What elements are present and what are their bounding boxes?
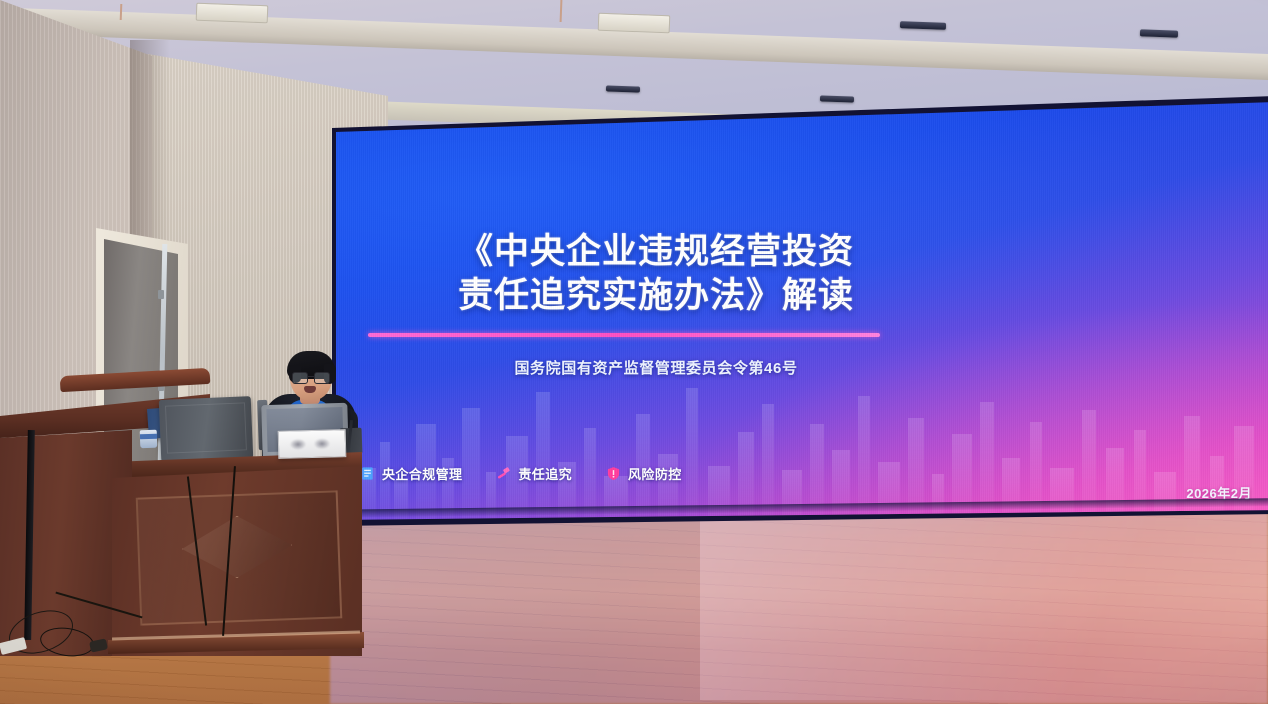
floor-sheen [700,505,1268,700]
laptop-left[interactable] [159,396,254,462]
ceiling-light-fixture [900,21,946,30]
paper-cup-band [140,434,157,440]
ceiling-light-fixture [606,85,640,92]
ceiling-vent [598,13,671,34]
screen-pixel-grain [330,102,1268,520]
ceiling-light-fixture [1140,29,1178,37]
led-presentation-wall[interactable]: 《中央企业违规经营投资 责任追究实施办法》解读 国务院国有资产监督管理委员会令第… [330,102,1268,520]
name-card-text [287,435,337,452]
ceiling-trim-stripe [560,0,563,22]
eyeglasses-icon [292,372,330,382]
door-handle[interactable] [158,290,164,299]
ceiling-vent [196,3,269,24]
presenter-mouth [304,386,316,393]
presenter-name-card [278,429,347,459]
ceiling-light-fixture [820,95,854,102]
conference-room-screenshot: 《中央企业违规经营投资 责任追究实施办法》解读 国务院国有资产监督管理委员会令第… [0,0,1268,704]
